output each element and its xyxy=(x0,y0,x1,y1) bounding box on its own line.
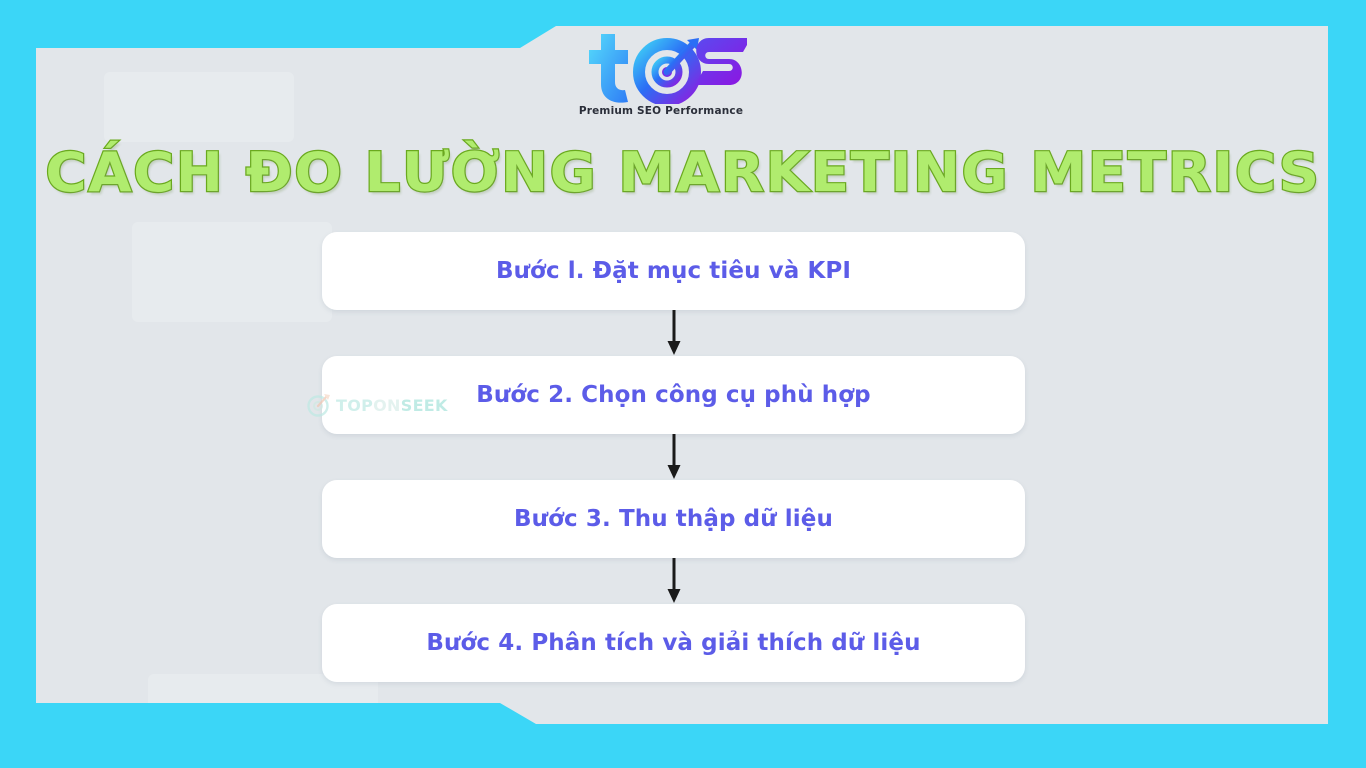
arrow-connector-1-2 xyxy=(322,310,1025,356)
step-label-3: Bước 3. Thu thập dữ liệu xyxy=(514,506,833,532)
tos-logo: Premium SEO Performance xyxy=(566,30,756,126)
step-box-1[interactable]: Bước l. Đặt mục tiêu và KPI xyxy=(322,232,1025,310)
arrow-down-icon xyxy=(665,558,683,604)
arrow-connector-3-4 xyxy=(322,558,1025,604)
toponseek-watermark: TOPONSEEK xyxy=(306,392,448,418)
watermark-part-top: TOP xyxy=(336,396,373,415)
logo-tagline: Premium SEO Performance xyxy=(566,105,756,117)
step-label-1: Bước l. Đặt mục tiêu và KPI xyxy=(496,258,851,284)
panel-texture-blotch xyxy=(104,72,294,142)
step-label-4: Bước 4. Phân tích và giải thích dữ liệu xyxy=(426,630,920,656)
watermark-text: TOPONSEEK xyxy=(336,396,448,415)
panel-texture-blotch xyxy=(132,222,332,322)
tos-wordmark-icon xyxy=(575,30,747,104)
step-box-4[interactable]: Bước 4. Phân tích và giải thích dữ liệu xyxy=(322,604,1025,682)
target-arrow-icon xyxy=(306,392,332,418)
page-title: CÁCH ĐO LƯỜNG MARKETING METRICS xyxy=(0,143,1366,203)
arrow-down-icon xyxy=(665,434,683,480)
arrow-connector-2-3 xyxy=(322,434,1025,480)
step-label-2: Bước 2. Chọn công cụ phù hợp xyxy=(476,382,871,408)
infographic-canvas: Premium SEO Performance CÁCH ĐO LƯỜNG MA… xyxy=(0,0,1366,768)
arrow-down-icon xyxy=(665,310,683,356)
steps-flow: Bước l. Đặt mục tiêu và KPI Bước 2. Chọn… xyxy=(322,232,1025,682)
watermark-part-on: ON xyxy=(373,396,401,415)
watermark-part-seek: SEEK xyxy=(401,396,448,415)
step-box-3[interactable]: Bước 3. Thu thập dữ liệu xyxy=(322,480,1025,558)
